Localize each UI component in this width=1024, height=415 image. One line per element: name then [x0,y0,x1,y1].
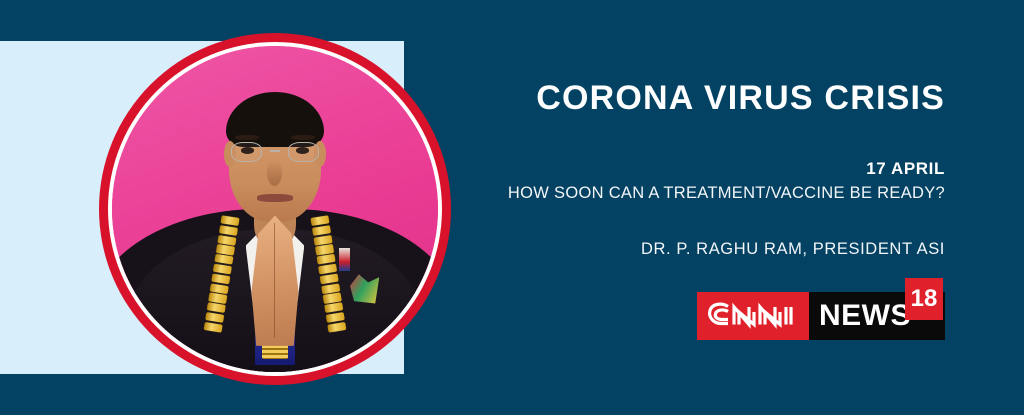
portrait-eyeglass-right [288,142,319,162]
broadcast-date: 17 APRIL [325,159,945,179]
broadcast-topic: HOW SOON CAN A TREATMENT/VACCINE BE READ… [325,184,945,203]
news-wordmark: NEWS [819,301,911,331]
broadcast-lower-third: CORONA VIRUS CRISIS 17 APRIL HOW SOON CA… [0,0,1024,415]
portrait-eyeglass-bridge [270,150,279,151]
page-title: CORONA VIRUS CRISIS [325,80,945,117]
portrait-mouth [257,194,293,201]
channel-number-label: 18 [911,287,938,311]
broadcast-text-block: CORONA VIRUS CRISIS 17 APRIL HOW SOON CA… [325,80,945,259]
channel-number-badge: 18 [905,278,943,320]
portrait-eyebrow-left [235,135,259,140]
cnn-news18-logo: NEWS 18 [697,278,945,340]
cnn-logo-block [697,292,809,340]
broadcast-presenter: DR. P. RAGHU RAM, PRESIDENT ASI [325,240,945,259]
portrait-eyeglass-left [231,142,262,162]
cnn-wordmark-icon [705,299,801,333]
portrait-eyebrow-right [291,135,315,140]
